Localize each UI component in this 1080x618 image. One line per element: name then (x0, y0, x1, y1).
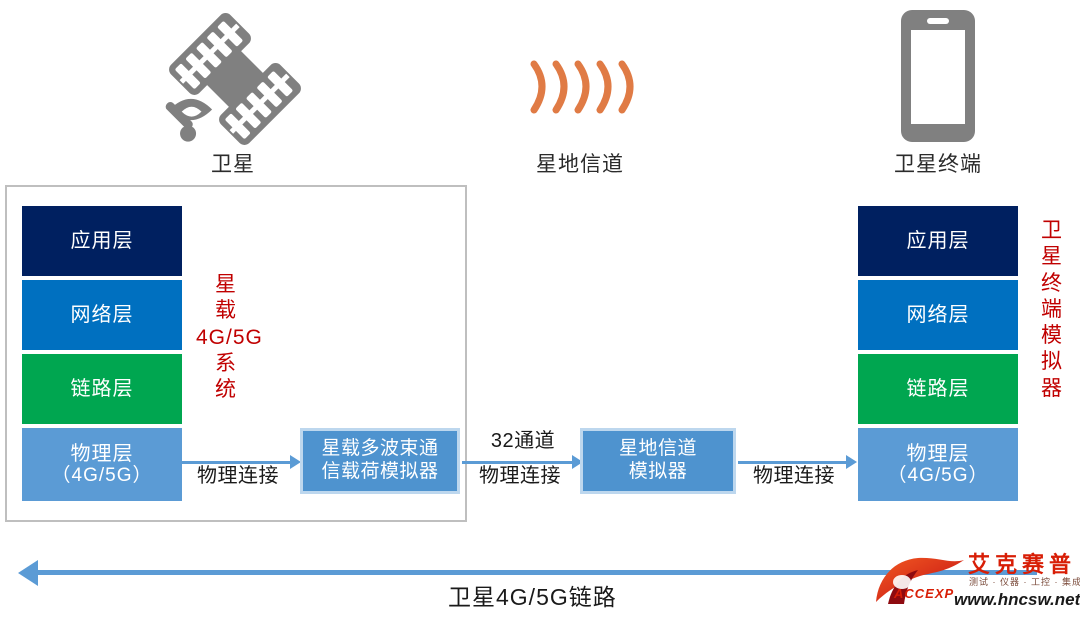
connector-channel-to-terminal-line (738, 461, 848, 464)
layer-label: 链路层 (71, 378, 134, 400)
payload-simulator-line2: 信载荷模拟器 (321, 461, 438, 484)
satellite-icon (148, 6, 318, 151)
channel-caption: 星地信道 (500, 148, 660, 178)
connector-payload-to-channel-label-top: 32通道 (468, 430, 578, 453)
satellite-layer-application[interactable]: 应用层 (22, 206, 182, 276)
connector-phy-to-payload-label: 物理连接 (182, 465, 294, 488)
payload-simulator-line1: 星载多波束通 (321, 438, 438, 461)
company-logo[interactable]: 艾克赛普 测试 · 仪器 · 工控 · 集成 www.hncsw.net ACC… (872, 552, 1076, 610)
satellite-layer-link[interactable]: 链路层 (22, 354, 182, 424)
connector-phy-to-payload-line (182, 461, 292, 464)
onboard-system-annotation: 星 载 4G/5G 系 统 (196, 272, 256, 403)
layer-label: 物理层 (71, 443, 134, 465)
layer-sublabel: （4G/5G） (52, 465, 153, 486)
logo-company-name: 艾克赛普 (968, 554, 1076, 576)
satellite-layer-physical[interactable]: 物理层 （4G/5G） (22, 428, 182, 501)
annotation-row: 卫 (1032, 218, 1072, 244)
terminal-protocol-stack: 应用层 网络层 链路层 物理层 （4G/5G） (858, 206, 1018, 501)
layer-label: 网络层 (71, 304, 134, 326)
signal-waves-icon (520, 48, 640, 128)
logo-mark-text: ACCEXP (894, 586, 954, 601)
annotation-row: 系 (196, 351, 256, 377)
smartphone-icon (893, 6, 983, 146)
channel-simulator-line1: 星地信道 (619, 438, 697, 461)
annotation-row: 统 (196, 377, 256, 403)
layer-label: 应用层 (907, 230, 970, 252)
terminal-layer-network[interactable]: 网络层 (858, 280, 1018, 350)
terminal-layer-physical[interactable]: 物理层 （4G/5G） (858, 428, 1018, 501)
satellite-protocol-stack: 应用层 网络层 链路层 物理层 （4G/5G） (22, 206, 182, 501)
layer-label: 链路层 (907, 378, 970, 400)
terminal-caption: 卫星终端 (858, 148, 1018, 178)
layer-label: 物理层 (907, 443, 970, 465)
logo-tagline: 测试 · 仪器 · 工控 · 集成 (969, 578, 1080, 587)
terminal-layer-application[interactable]: 应用层 (858, 206, 1018, 276)
terminal-simulator-annotation: 卫 星 终 端 模 拟 器 (1032, 218, 1072, 402)
layer-sublabel: （4G/5G） (888, 465, 989, 486)
annotation-row: 星 (196, 272, 256, 298)
channel-simulator-line2: 模拟器 (629, 461, 688, 484)
logo-url: www.hncsw.net (954, 591, 1080, 608)
layer-label: 网络层 (907, 304, 970, 326)
layer-label: 应用层 (71, 230, 134, 252)
connector-channel-to-terminal-label: 物理连接 (738, 465, 850, 488)
annotation-row: 模 (1032, 323, 1072, 349)
connector-payload-to-channel-line (462, 461, 574, 464)
satellite-layer-network[interactable]: 网络层 (22, 280, 182, 350)
annotation-row: 4G/5G (196, 325, 256, 351)
terminal-layer-link[interactable]: 链路层 (858, 354, 1018, 424)
satellite-link-arrowhead (18, 560, 38, 586)
annotation-row: 星 (1032, 244, 1072, 270)
annotation-row: 载 (196, 298, 256, 324)
satellite-caption: 卫星 (148, 148, 318, 178)
satellite-link-label: 卫星4G/5G链路 (448, 578, 617, 612)
payload-simulator-box[interactable]: 星载多波束通 信载荷模拟器 (300, 428, 460, 494)
connector-payload-to-channel-label-bottom: 物理连接 (462, 465, 578, 488)
annotation-row: 器 (1032, 376, 1072, 402)
channel-simulator-box[interactable]: 星地信道 模拟器 (580, 428, 736, 494)
annotation-row: 拟 (1032, 349, 1072, 375)
annotation-row: 终 (1032, 271, 1072, 297)
annotation-row: 端 (1032, 297, 1072, 323)
diagram-canvas: 卫星 星地信道 卫星终端 应用层 网络层 (0, 0, 1080, 618)
